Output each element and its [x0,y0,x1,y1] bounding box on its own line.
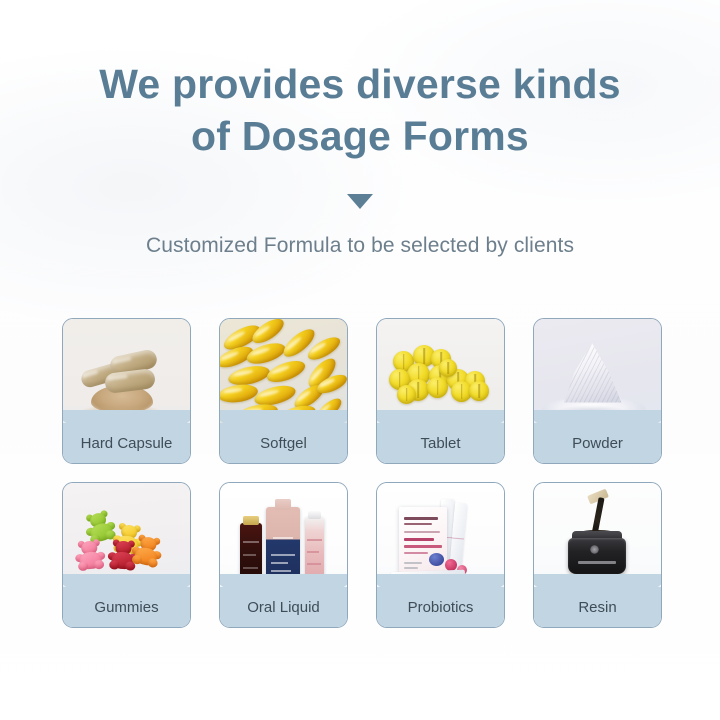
page-title-line2: of Dosage Forms [0,110,720,162]
dosage-card-label: Resin [534,587,661,627]
triangle-down-icon [347,194,373,209]
dosage-card-tablet[interactable]: Tablet [376,318,505,464]
dosage-card-label: Gummies [63,587,190,627]
dosage-form-grid: Hard Capsule Softgel Tablet [62,318,662,628]
dosage-forms-page: We provides diverse kinds of Dosage Form… [0,0,720,720]
page-subtitle: Customized Formula to be selected by cli… [0,232,720,260]
dosage-card-softgel[interactable]: Softgel [219,318,348,464]
dosage-card-label: Softgel [220,423,347,463]
dosage-card-label: Tablet [377,423,504,463]
dosage-card-hard-capsule[interactable]: Hard Capsule [62,318,191,464]
dosage-card-probiotics[interactable]: Probiotics [376,482,505,628]
dosage-card-resin[interactable]: Resin [533,482,662,628]
triangle-down-icon-wrap [0,194,720,218]
page-title: We provides diverse kinds of Dosage Form… [0,58,720,162]
dosage-card-label: Oral Liquid [220,587,347,627]
dosage-card-oral-liquid[interactable]: Oral Liquid [219,482,348,628]
dosage-card-label: Powder [534,423,661,463]
dosage-card-powder[interactable]: Powder [533,318,662,464]
page-title-line1: We provides diverse kinds [99,61,621,107]
dosage-card-gummies[interactable]: Gummies [62,482,191,628]
dosage-card-label: Hard Capsule [63,423,190,463]
dosage-card-label: Probiotics [377,587,504,627]
